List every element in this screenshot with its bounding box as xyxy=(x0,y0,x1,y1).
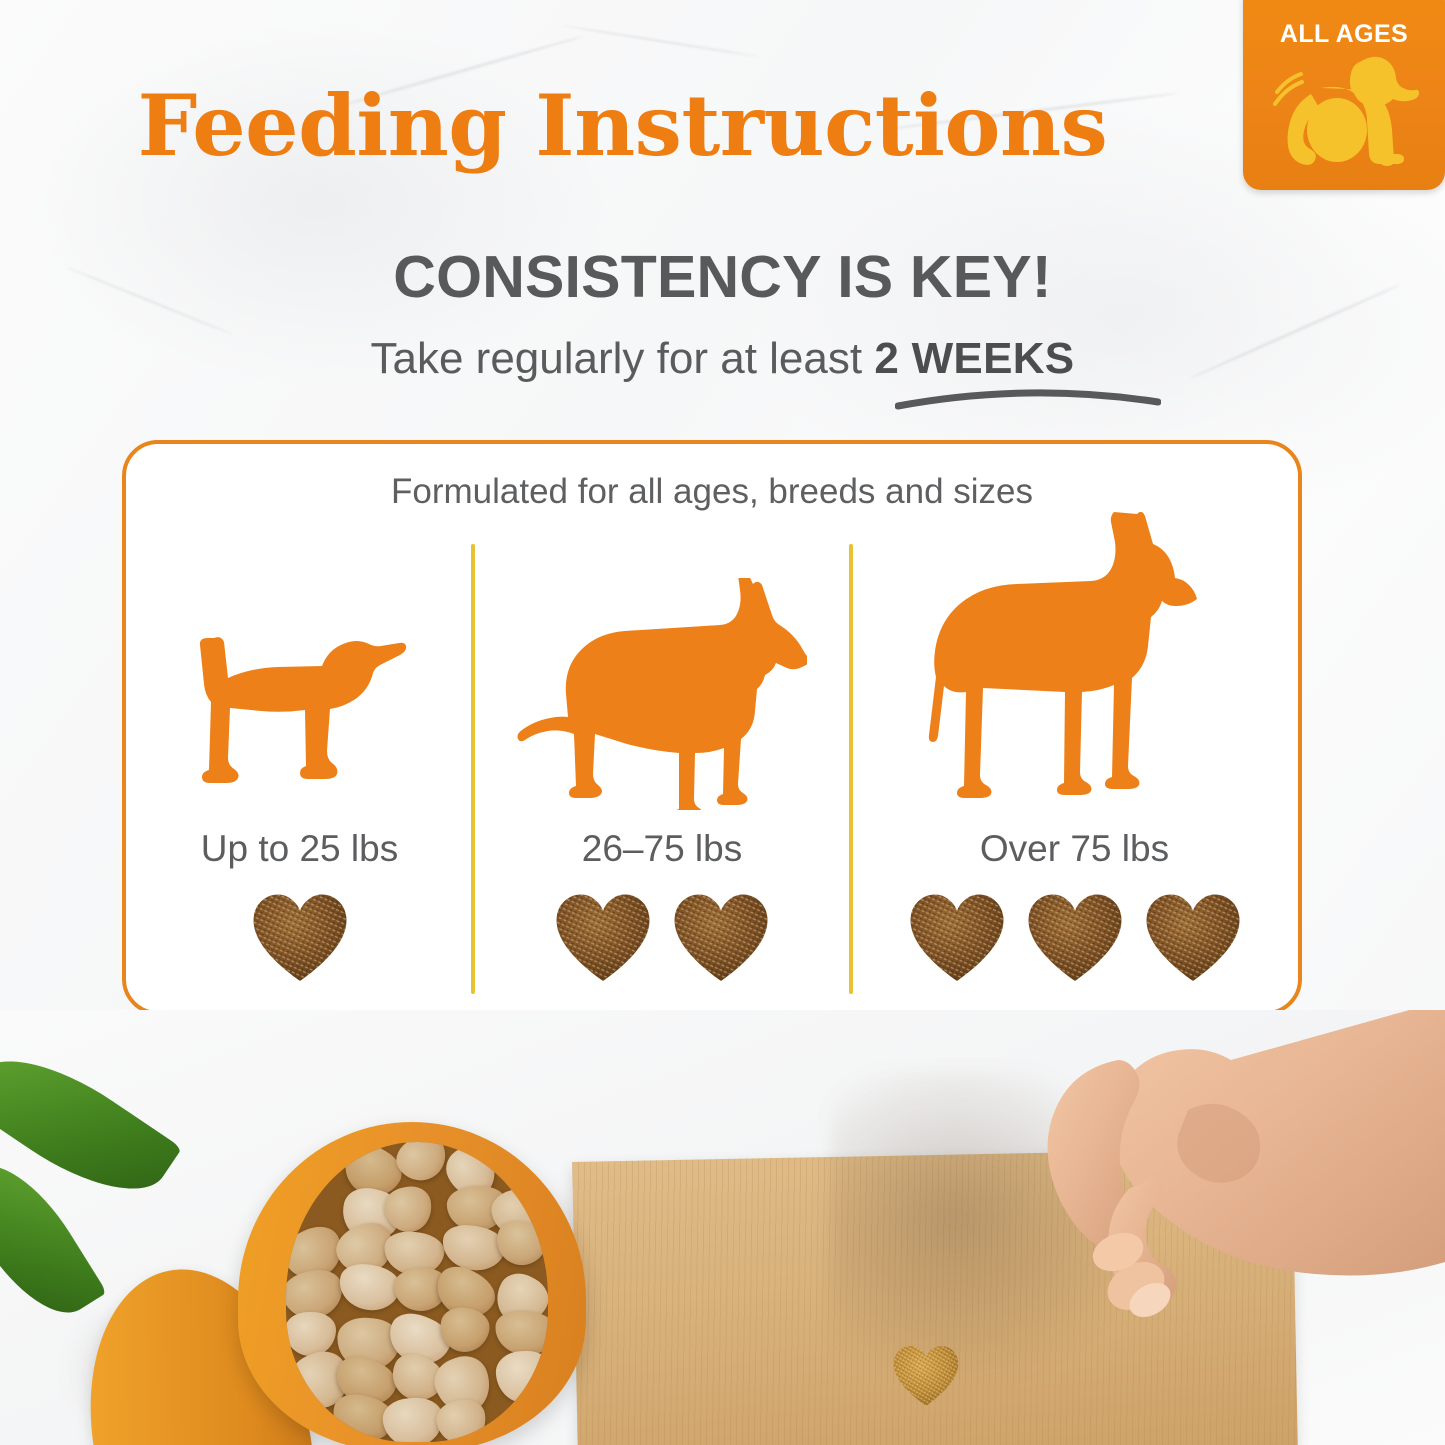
weight-label-small: Up to 25 lbs xyxy=(201,828,398,870)
heart-kibble-treat-icon xyxy=(890,1340,962,1413)
treat-count-medium xyxy=(551,886,773,989)
heart-kibble-treat-icon xyxy=(286,1312,336,1356)
heart-kibble-treat-icon xyxy=(1023,886,1127,989)
weight-label-medium: 26–75 lbs xyxy=(582,828,742,870)
heart-kibble-treat-icon xyxy=(248,886,352,989)
feeding-instructions-infographic: ALL AGES xyxy=(0,0,1445,1445)
feeding-column-small: Up to 25 lbs xyxy=(126,500,473,1000)
heart-kibble-treat-icon xyxy=(1141,886,1245,989)
weight-label-large: Over 75 lbs xyxy=(980,828,1169,870)
heart-kibble-treat-icon xyxy=(551,886,655,989)
underline-swoosh-icon xyxy=(895,386,1161,415)
instruction-emphasis: 2 WEEKS xyxy=(874,334,1074,383)
heart-kibble-treat-icon xyxy=(495,1350,548,1404)
heart-kibble-treat-icon xyxy=(669,886,773,989)
jar-opening xyxy=(286,1142,548,1442)
feeding-column-large: Over 75 lbs xyxy=(851,500,1298,1000)
large-dog-silhouette-icon xyxy=(851,500,1298,810)
product-lifestyle-photo xyxy=(0,1010,1445,1445)
page-title: Feeding Instructions xyxy=(0,84,1445,168)
instruction-prefix: Take regularly for at least xyxy=(371,334,875,383)
small-dog-silhouette-icon xyxy=(126,500,473,810)
all-ages-badge-label: ALL AGES xyxy=(1243,20,1445,49)
treat-count-small xyxy=(248,886,352,989)
treat-count-large xyxy=(905,886,1245,989)
heart-kibble-treat-icon xyxy=(905,886,1009,989)
heart-kibble-treat-icon xyxy=(382,1396,445,1442)
feeding-column-medium: 26–75 lbs xyxy=(473,500,851,1000)
feeding-chart-card: Formulated for all ages, breeds and size… xyxy=(122,440,1302,1015)
subtitle-consistency: CONSISTENCY IS KEY! xyxy=(0,243,1445,311)
medium-dog-silhouette-icon xyxy=(473,500,851,810)
instruction-line: Take regularly for at least 2 WEEKS xyxy=(0,334,1445,384)
